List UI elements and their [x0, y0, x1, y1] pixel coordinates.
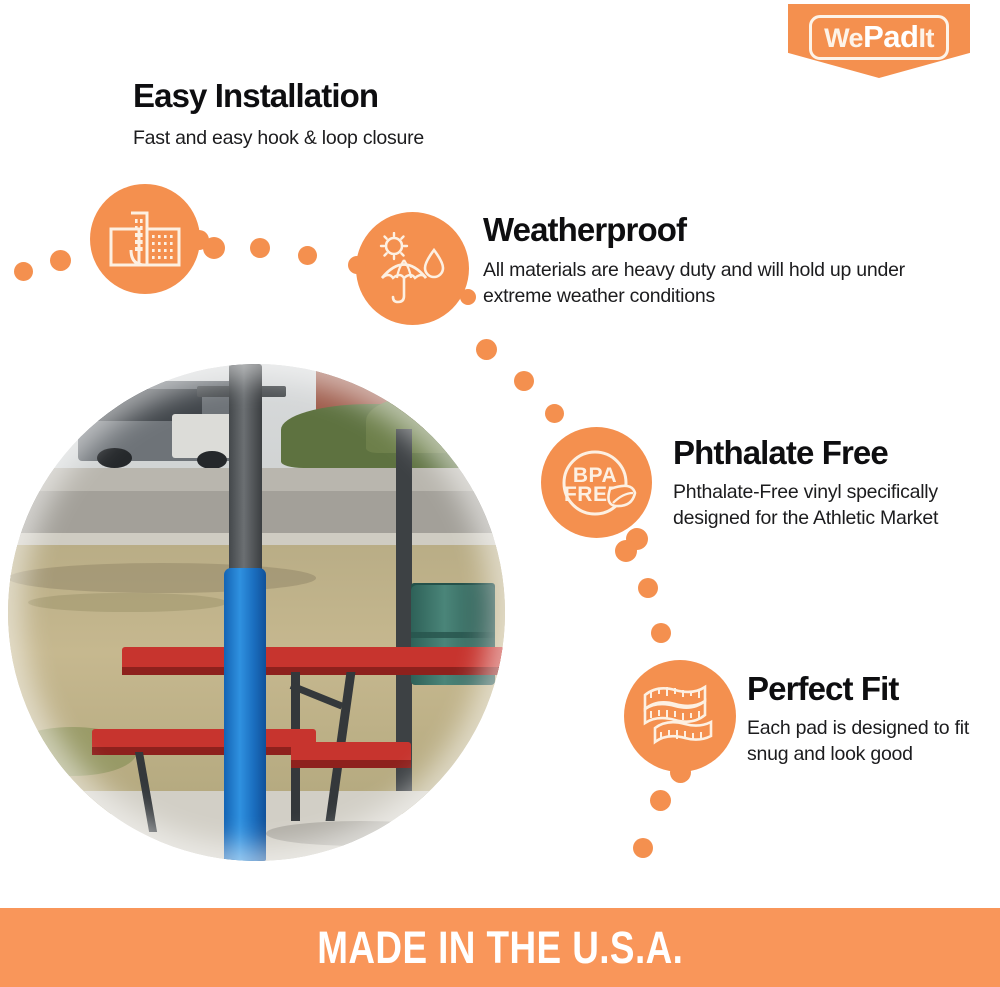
- trail-dot: [250, 238, 270, 258]
- made-in-usa-banner: MADE IN THE U.S.A.: [0, 908, 1000, 987]
- circle-nub: [670, 762, 691, 783]
- logo-pill: We Pad It: [809, 15, 949, 60]
- circle-nub: [460, 289, 476, 305]
- feature-title-easy-installation: Easy Installation: [133, 79, 603, 114]
- feature-block-perfect-fit: Perfect Fit Each pad is designed to fit …: [747, 672, 997, 768]
- trail-dot: [638, 578, 658, 598]
- feature-block-weatherproof: Weatherproof All materials are heavy dut…: [483, 213, 913, 310]
- feature-description-weatherproof: All materials are heavy duty and will ho…: [483, 257, 913, 310]
- feature-icon-perfect-fit: [624, 660, 736, 772]
- infographic-page: We Pad It Easy Installation Fast and eas…: [0, 0, 1000, 987]
- trail-dot: [514, 371, 534, 391]
- feature-icon-phthalate-free: BPA FREE: [541, 427, 652, 538]
- trail-dot: [298, 246, 317, 265]
- trail-dot: [476, 339, 497, 360]
- product-photo: [8, 364, 505, 861]
- trail-dot: [545, 404, 564, 423]
- feature-description-phthalate-free: Phthalate-Free vinyl specifically design…: [673, 479, 993, 532]
- feature-icon-weatherproof: [356, 212, 469, 325]
- umbrella-sun-rain-icon: [374, 232, 452, 306]
- hook-and-loop-icon: [109, 208, 181, 270]
- brand-logo: We Pad It: [788, 4, 970, 78]
- feature-title-phthalate-free: Phthalate Free: [673, 436, 993, 471]
- trail-dot: [615, 540, 637, 562]
- feature-icon-easy-installation: [90, 184, 200, 294]
- made-in-usa-text: MADE IN THE U.S.A.: [317, 922, 683, 974]
- feature-description-easy-installation: Fast and easy hook & loop closure: [133, 125, 603, 152]
- logo-banner-shape: We Pad It: [788, 4, 970, 78]
- bpa-free-leaf-icon: BPA FREE: [555, 441, 639, 525]
- logo-text-pad: Pad: [863, 21, 918, 52]
- trail-dot: [633, 838, 653, 858]
- trail-dot: [650, 790, 671, 811]
- trail-dot: [651, 623, 671, 643]
- logo-text-we: We: [824, 25, 863, 52]
- feature-title-weatherproof: Weatherproof: [483, 213, 913, 248]
- logo-text-it: It: [918, 25, 934, 52]
- photo-vignette: [8, 364, 505, 861]
- trail-dot: [50, 250, 71, 271]
- trail-dot: [14, 262, 33, 281]
- feature-block-easy-installation: Easy Installation Fast and easy hook & l…: [133, 79, 603, 151]
- trail-dot: [203, 237, 225, 259]
- circle-nub: [348, 256, 366, 274]
- feature-title-perfect-fit: Perfect Fit: [747, 672, 997, 707]
- feature-block-phthalate-free: Phthalate Free Phthalate-Free vinyl spec…: [673, 436, 993, 532]
- feature-description-perfect-fit: Each pad is designed to fit snug and loo…: [747, 715, 997, 768]
- measuring-tape-icon: [639, 677, 721, 755]
